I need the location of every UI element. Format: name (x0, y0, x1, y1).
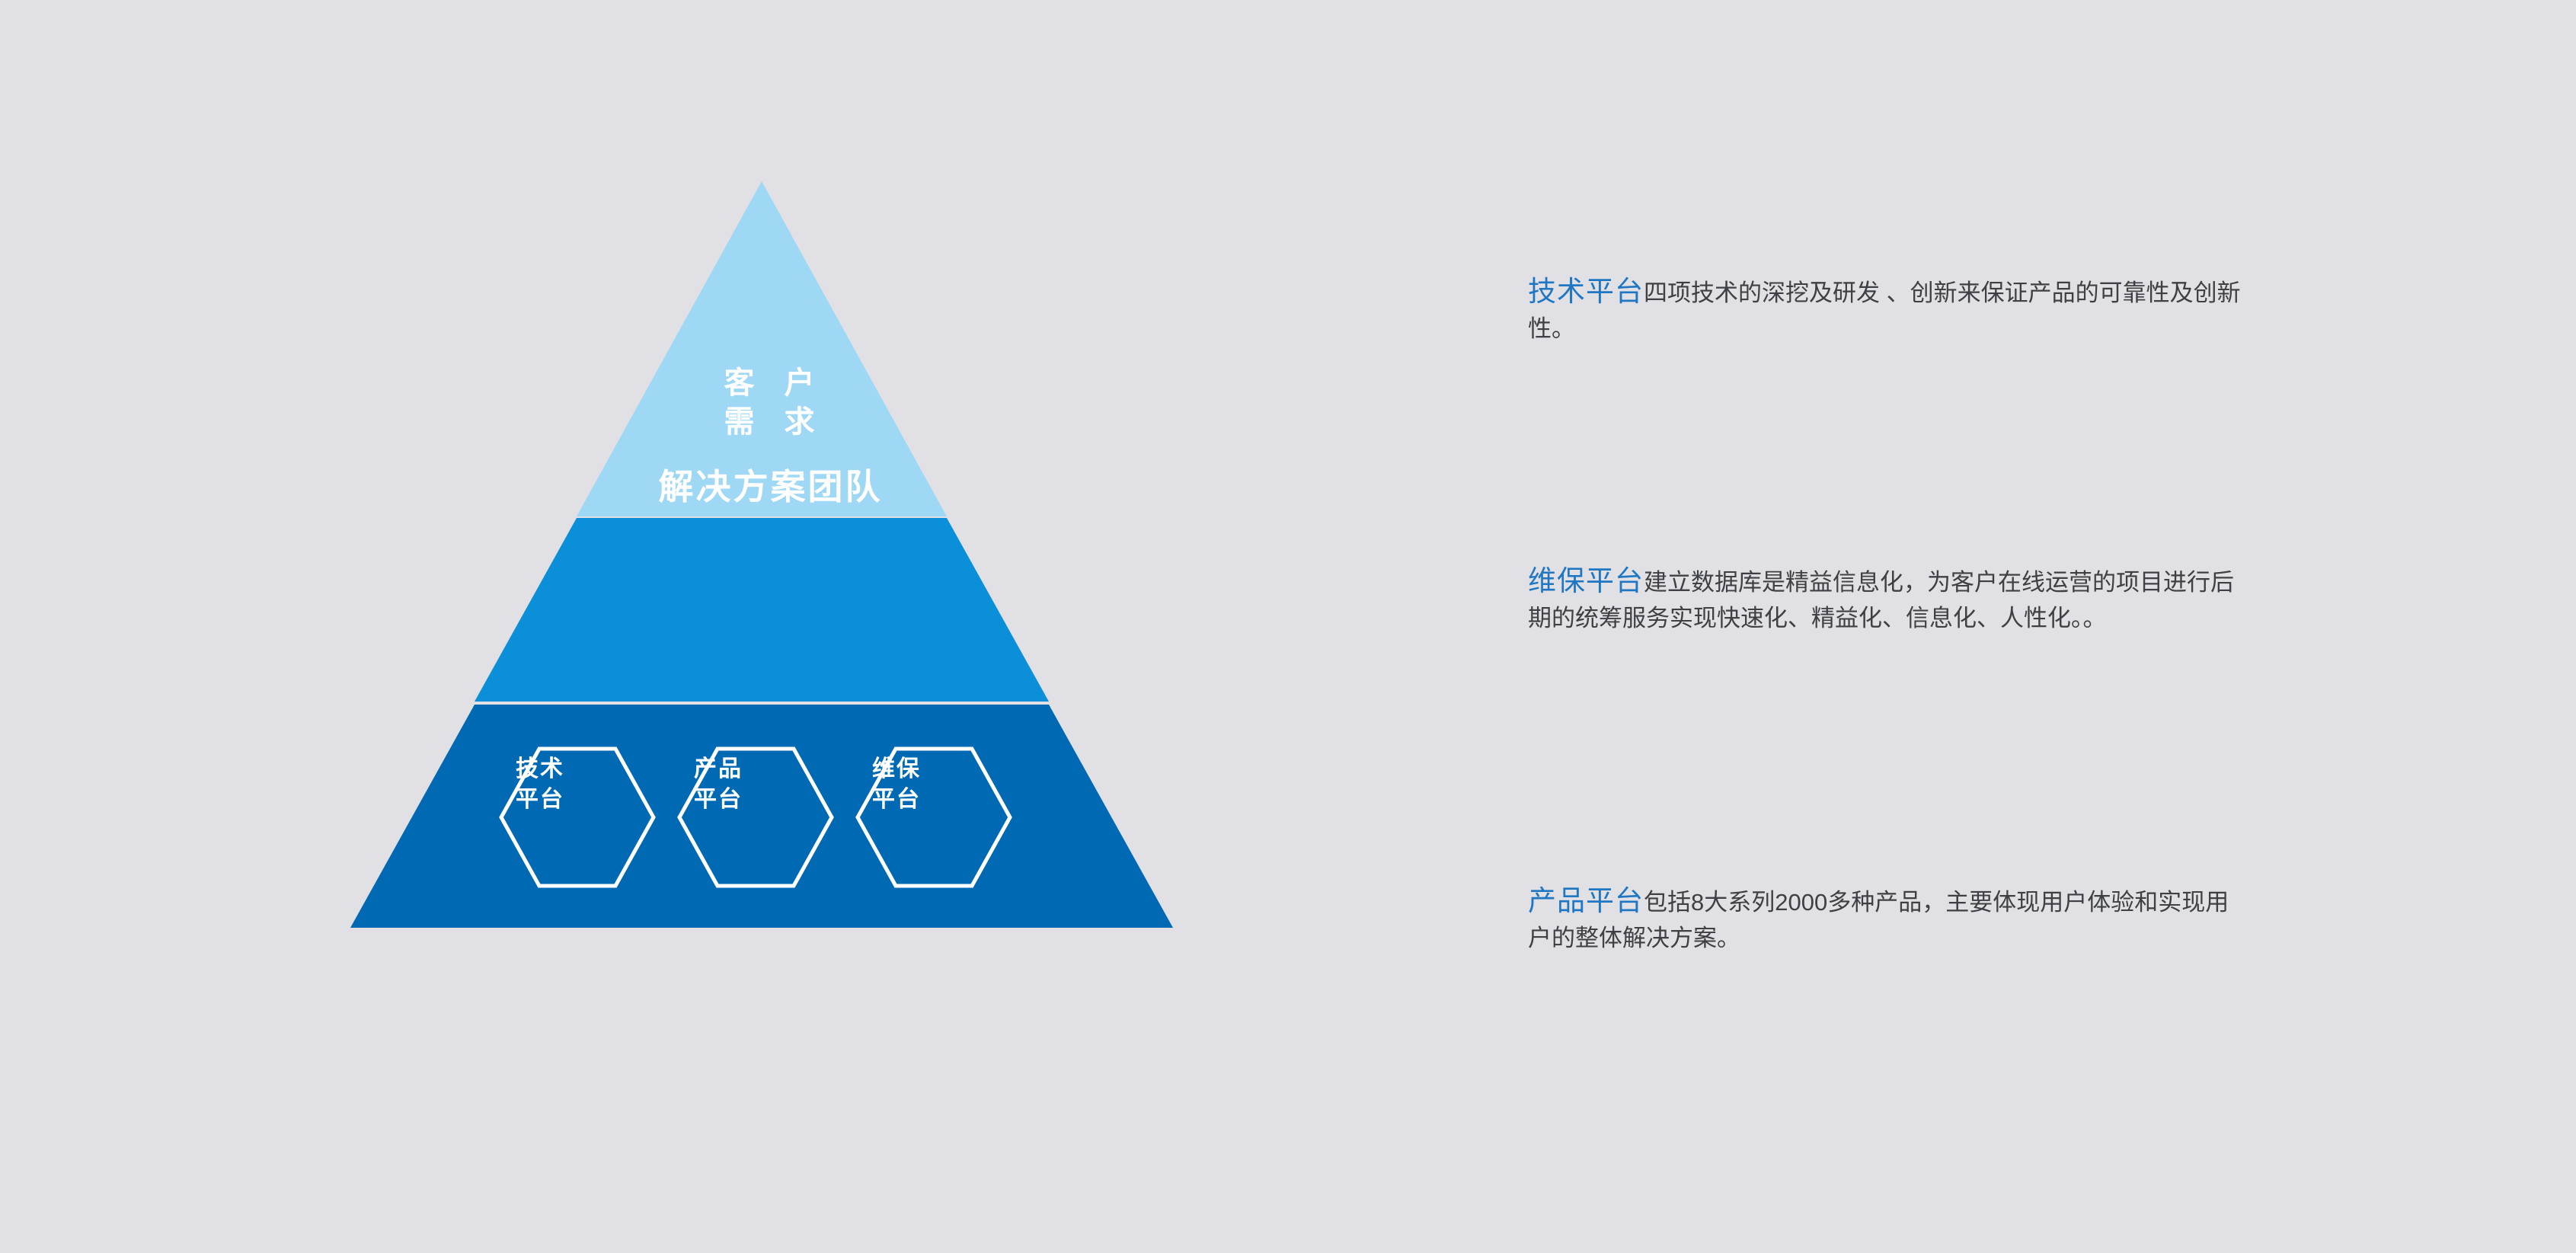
description-title-maintenance-platform: 维保平台 (1528, 565, 1644, 596)
description-product-platform: 产品平台包括8大系列2000多种产品，主要体现用户体验和实现用户的整体解决方案。 (1528, 881, 2252, 955)
pyramid-diagram: 客 户 需 求 解决方案团队 技术 平台 产品 平台 维保 平台 (350, 175, 1188, 933)
hexagon-label-tech-platform-line2: 平台 (463, 785, 615, 815)
hexagon-label-product-platform: 产品 平台 (641, 754, 794, 815)
pyramid-tier-solution-team[interactable] (475, 518, 1049, 702)
description-maintenance-platform: 维保平台建立数据库是精益信息化，为客户在线运营的项目进行后期的统筹服务实现快速化… (1528, 561, 2252, 635)
description-title-tech-platform: 技术平台 (1528, 276, 1644, 307)
hexagon-label-product-platform-line2: 平台 (641, 785, 794, 815)
hexagon-label-maintenance-platform-line2: 平台 (820, 785, 972, 815)
hexagon-label-maintenance-platform-line1: 维保 (820, 754, 972, 785)
pyramid-tier-platforms[interactable] (350, 705, 1173, 928)
description-tech-platform: 技术平台四项技术的深挖及研发 、创新来保证产品的可靠性及创新性。 (1528, 272, 2252, 346)
diagram-canvas: 客 户 需 求 解决方案团队 技术 平台 产品 平台 维保 平台 技术平台四项技… (0, 0, 2576, 1253)
hexagon-label-maintenance-platform: 维保 平台 (820, 754, 972, 815)
pyramid-tier-customer-needs[interactable] (577, 181, 947, 516)
hexagon-label-tech-platform: 技术 平台 (463, 754, 615, 815)
hexagon-label-tech-platform-line1: 技术 (463, 754, 615, 785)
hexagon-label-product-platform-line1: 产品 (641, 754, 794, 785)
description-title-product-platform: 产品平台 (1528, 885, 1644, 916)
